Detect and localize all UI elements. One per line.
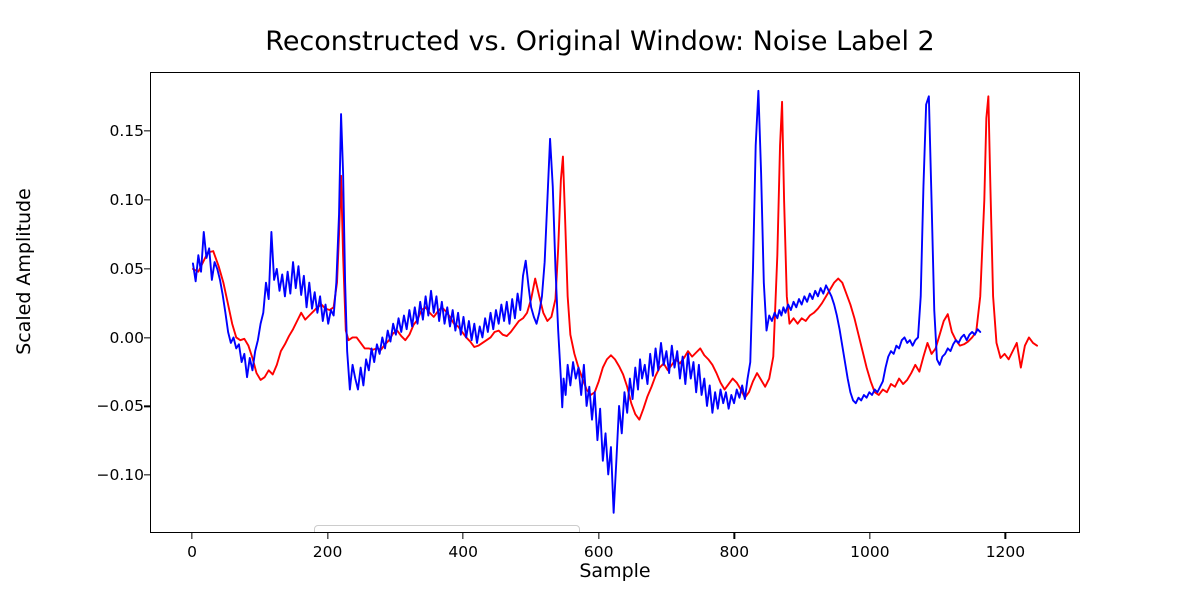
line-series-original-window <box>193 91 980 513</box>
figure-canvas: Reconstructed vs. Original Window: Noise… <box>0 0 1200 600</box>
x-axis-tick-label: 200 <box>313 543 343 561</box>
page-title: Reconstructed vs. Original Window: Noise… <box>0 26 1200 58</box>
y-axis-tick-label: 0.10 <box>74 191 144 209</box>
x-axis-tick-label: 600 <box>584 543 614 561</box>
y-axis-tick-label: 0.00 <box>74 329 144 347</box>
y-axis-tick-label: −0.05 <box>74 397 144 415</box>
x-axis-tick-label: 1200 <box>986 543 1025 561</box>
line-series-reconstructed-window <box>193 96 1037 419</box>
x-axis-tick-mark <box>598 533 599 539</box>
y-axis-tick-label: 0.05 <box>74 260 144 278</box>
legend: Reconstructed Window Original Window <box>314 525 580 533</box>
x-axis-tick-mark <box>463 533 464 539</box>
x-axis-tick-mark <box>734 533 735 539</box>
x-axis-tick-label: 800 <box>720 543 750 561</box>
y-axis-tick-labels: 0.150.100.050.00−0.05−0.10 <box>72 72 144 533</box>
y-axis-tick-label: 0.15 <box>74 122 144 140</box>
y-axis-label: Scaled Amplitude <box>13 41 43 502</box>
x-axis-tick-mark <box>869 533 870 539</box>
x-axis-tick-label: 0 <box>187 543 197 561</box>
x-axis-tick-label: 400 <box>448 543 478 561</box>
x-axis-label: Sample <box>150 560 1080 582</box>
x-axis-tick-label: 1000 <box>850 543 889 561</box>
series-canvas <box>151 73 1079 532</box>
x-axis-tick-mark <box>1005 533 1006 539</box>
plot-area: Reconstructed Window Original Window <box>150 72 1080 533</box>
x-axis-tick-mark <box>327 533 328 539</box>
y-axis-tick-label: −0.10 <box>74 466 144 484</box>
x-axis-tick-mark <box>191 533 192 539</box>
